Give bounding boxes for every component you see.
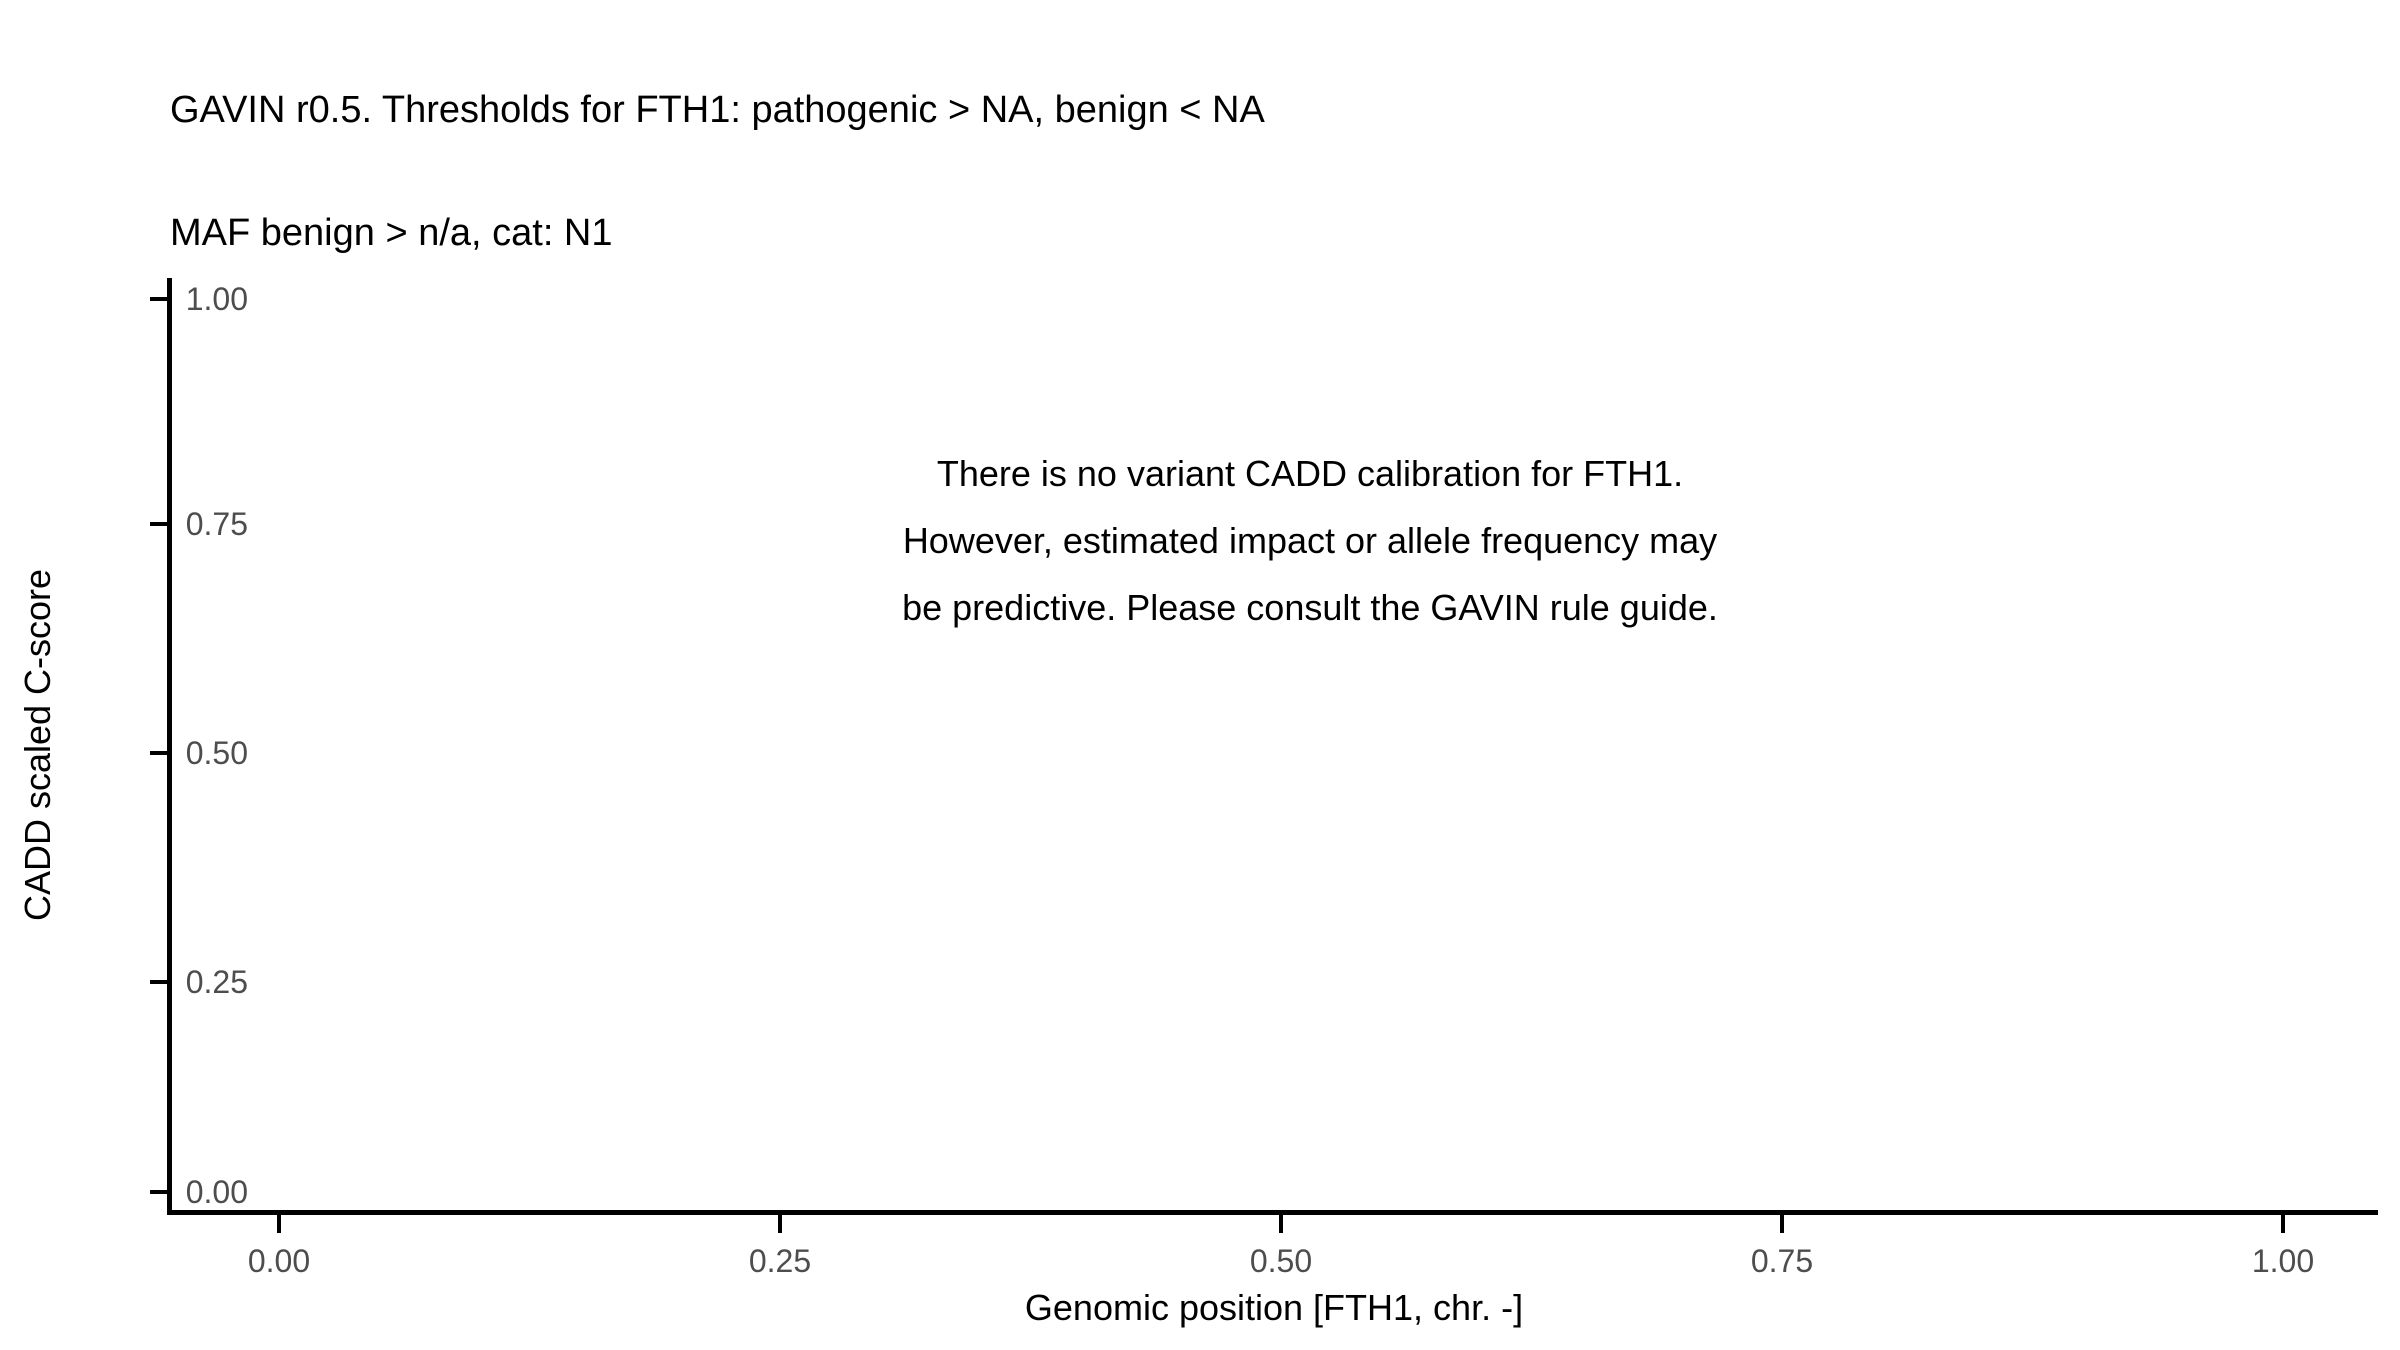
x-axis-title: Genomic position [FTH1, chr. -] [170,1288,2378,1328]
x-tick-label-0.75: 0.75 [1672,1243,1892,1279]
y-axis-title: CADD scaled C-score [18,278,74,1212]
y-tick-label-0.25: 0.25 [48,966,248,998]
x-tick-mark-0.25 [778,1215,782,1233]
y-tick-label-1.00: 1.00 [48,283,248,315]
x-tick-mark-0.75 [1780,1215,1784,1233]
plot-panel [170,278,2378,1212]
y-tick-label-0.00: 0.00 [48,1176,248,1208]
x-tick-label-1.00: 1.00 [2173,1243,2393,1279]
panel-annotation-line-2: However, estimated impact or allele freq… [810,507,1810,574]
plot-title-line-2: MAF benign > n/a, cat: N1 [170,213,2370,254]
plot-title-line-1: GAVIN r0.5. Thresholds for FTH1: pathoge… [170,90,2370,131]
y-tick-label-0.75: 0.75 [48,508,248,540]
x-axis-line [167,1210,2378,1215]
panel-annotation-line-3: be predictive. Please consult the GAVIN … [810,574,1810,641]
x-tick-label-0.00: 0.00 [169,1243,389,1279]
x-tick-mark-1.00 [2281,1215,2285,1233]
x-tick-mark-0.00 [277,1215,281,1233]
y-tick-label-0.50: 0.50 [48,737,248,769]
panel-annotation-line-1: There is no variant CADD calibration for… [810,440,1810,507]
x-tick-label-0.50: 0.50 [1171,1243,1391,1279]
panel-annotation: There is no variant CADD calibration for… [810,440,1810,641]
x-tick-label-0.25: 0.25 [670,1243,890,1279]
x-tick-mark-0.50 [1279,1215,1283,1233]
